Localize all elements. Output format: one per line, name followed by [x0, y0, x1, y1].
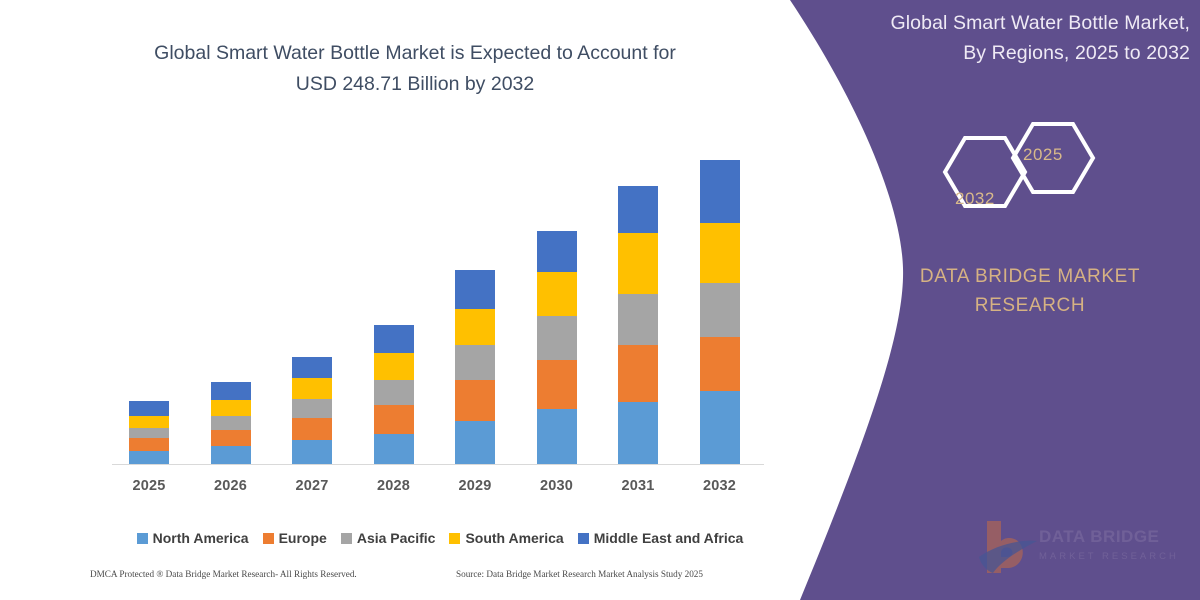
bar-segment[interactable]	[129, 416, 169, 428]
infographic-page: Global Smart Water Bottle Market is Expe…	[0, 0, 1200, 600]
legend-item[interactable]: Middle East and Africa	[578, 530, 744, 546]
legend-item[interactable]: South America	[449, 530, 563, 546]
bar-segment[interactable]	[537, 409, 577, 465]
bar-segment[interactable]	[700, 337, 740, 391]
page-title-line-2: USD 248.71 Billion by 2032	[95, 69, 735, 100]
hexagon-label-2025: 2025	[1023, 145, 1063, 165]
x-axis-label-2030: 2030	[522, 478, 592, 494]
watermark-line-1: DATA BRIDGE	[1039, 527, 1179, 547]
x-axis-label-2025: 2025	[114, 478, 184, 494]
bar-segment[interactable]	[618, 294, 658, 345]
bar-segment[interactable]	[455, 380, 495, 420]
bar-segment[interactable]	[537, 316, 577, 359]
bar-segment[interactable]	[618, 402, 658, 465]
panel-heading: Global Smart Water Bottle Market, By Reg…	[838, 8, 1190, 68]
bar-segment[interactable]	[211, 416, 251, 430]
panel-heading-line-1: Global Smart Water Bottle Market,	[838, 8, 1190, 38]
bar-segment[interactable]	[129, 428, 169, 439]
legend-item[interactable]: Europe	[263, 530, 327, 546]
bar-segment[interactable]	[618, 233, 658, 294]
bar-segment[interactable]	[211, 446, 251, 465]
bar-segment[interactable]	[129, 451, 169, 465]
legend-label: Asia Pacific	[357, 530, 436, 546]
page-title-line-1: Global Smart Water Bottle Market is Expe…	[95, 38, 735, 69]
hexagon-year-badges: 2032 2025	[925, 112, 1115, 230]
bar-segment[interactable]	[374, 434, 414, 465]
bar-segment[interactable]	[700, 283, 740, 337]
bar-segment[interactable]	[292, 357, 332, 379]
legend-label: Middle East and Africa	[594, 530, 744, 546]
footer-source: Source: Data Bridge Market Research Mark…	[456, 569, 703, 579]
bar-segment[interactable]	[700, 223, 740, 283]
legend-swatch-icon	[137, 533, 148, 544]
legend-swatch-icon	[341, 533, 352, 544]
bar-segment[interactable]	[537, 231, 577, 272]
bar-stack-2029[interactable]	[455, 270, 495, 465]
chart-legend: North AmericaEuropeAsia PacificSouth Ame…	[110, 530, 770, 546]
watermark-text: DATA BRIDGE MARKET RESEARCH	[1039, 527, 1179, 562]
watermark-line-2: MARKET RESEARCH	[1039, 551, 1179, 562]
x-axis-label-2029: 2029	[440, 478, 510, 494]
bar-segment[interactable]	[292, 418, 332, 441]
bar-stack-2028[interactable]	[374, 325, 414, 465]
bar-segment[interactable]	[455, 309, 495, 344]
x-axis-label-2032: 2032	[685, 478, 755, 494]
bar-stack-2031[interactable]	[618, 186, 658, 465]
page-title: Global Smart Water Bottle Market is Expe…	[95, 38, 735, 100]
bar-segment[interactable]	[292, 378, 332, 399]
x-axis-label-2026: 2026	[196, 478, 266, 494]
x-axis-labels: 20252026202720282029203020312032	[112, 478, 764, 500]
bar-stack-2030[interactable]	[537, 231, 577, 465]
bar-segment[interactable]	[700, 391, 740, 465]
bar-segment[interactable]	[374, 353, 414, 381]
legend-item[interactable]: Asia Pacific	[341, 530, 436, 546]
panel-heading-line-2: By Regions, 2025 to 2032	[838, 38, 1190, 68]
x-axis-label-2028: 2028	[359, 478, 429, 494]
legend-label: Europe	[279, 530, 327, 546]
legend-item[interactable]: North America	[137, 530, 249, 546]
legend-label: South America	[465, 530, 563, 546]
bar-segment[interactable]	[211, 382, 251, 400]
bar-segment[interactable]	[129, 438, 169, 451]
bar-segment[interactable]	[537, 360, 577, 409]
bar-segment[interactable]	[618, 345, 658, 402]
bar-segment[interactable]	[374, 405, 414, 435]
x-axis-label-2031: 2031	[603, 478, 673, 494]
bar-segment[interactable]	[129, 401, 169, 416]
bar-segment[interactable]	[537, 272, 577, 316]
bar-stack-2032[interactable]	[700, 160, 740, 465]
legend-swatch-icon	[578, 533, 589, 544]
bar-segment[interactable]	[211, 400, 251, 416]
legend-swatch-icon	[263, 533, 274, 544]
bar-segment[interactable]	[374, 325, 414, 353]
bar-segment[interactable]	[211, 430, 251, 447]
legend-label: North America	[153, 530, 249, 546]
x-axis-label-2027: 2027	[277, 478, 347, 494]
brand-name-line-1: DATA BRIDGE MARKET	[870, 262, 1190, 291]
bar-segment[interactable]	[455, 345, 495, 380]
bar-segment[interactable]	[292, 440, 332, 465]
footer-copyright: DMCA Protected ® Data Bridge Market Rese…	[90, 569, 357, 579]
bar-chart-plot	[112, 140, 762, 465]
hexagon-label-2032: 2032	[955, 189, 995, 209]
brand-name: DATA BRIDGE MARKET RESEARCH	[870, 262, 1190, 320]
bar-segment[interactable]	[374, 380, 414, 405]
brand-name-line-2: RESEARCH	[870, 291, 1190, 320]
bar-segment[interactable]	[292, 399, 332, 418]
watermark-logo: DATA BRIDGE MARKET RESEARCH	[975, 515, 1190, 587]
data-bridge-logo-icon	[975, 515, 1039, 581]
bar-segment[interactable]	[700, 160, 740, 223]
bar-stack-2025[interactable]	[129, 401, 169, 465]
bar-stack-2027[interactable]	[292, 357, 332, 465]
bar-stack-2026[interactable]	[211, 382, 251, 465]
bar-segment[interactable]	[618, 186, 658, 232]
legend-swatch-icon	[449, 533, 460, 544]
footer: DMCA Protected ® Data Bridge Market Rese…	[90, 569, 790, 585]
bar-segment[interactable]	[455, 421, 495, 465]
bar-segment[interactable]	[455, 270, 495, 309]
chart-baseline-axis	[112, 464, 764, 465]
